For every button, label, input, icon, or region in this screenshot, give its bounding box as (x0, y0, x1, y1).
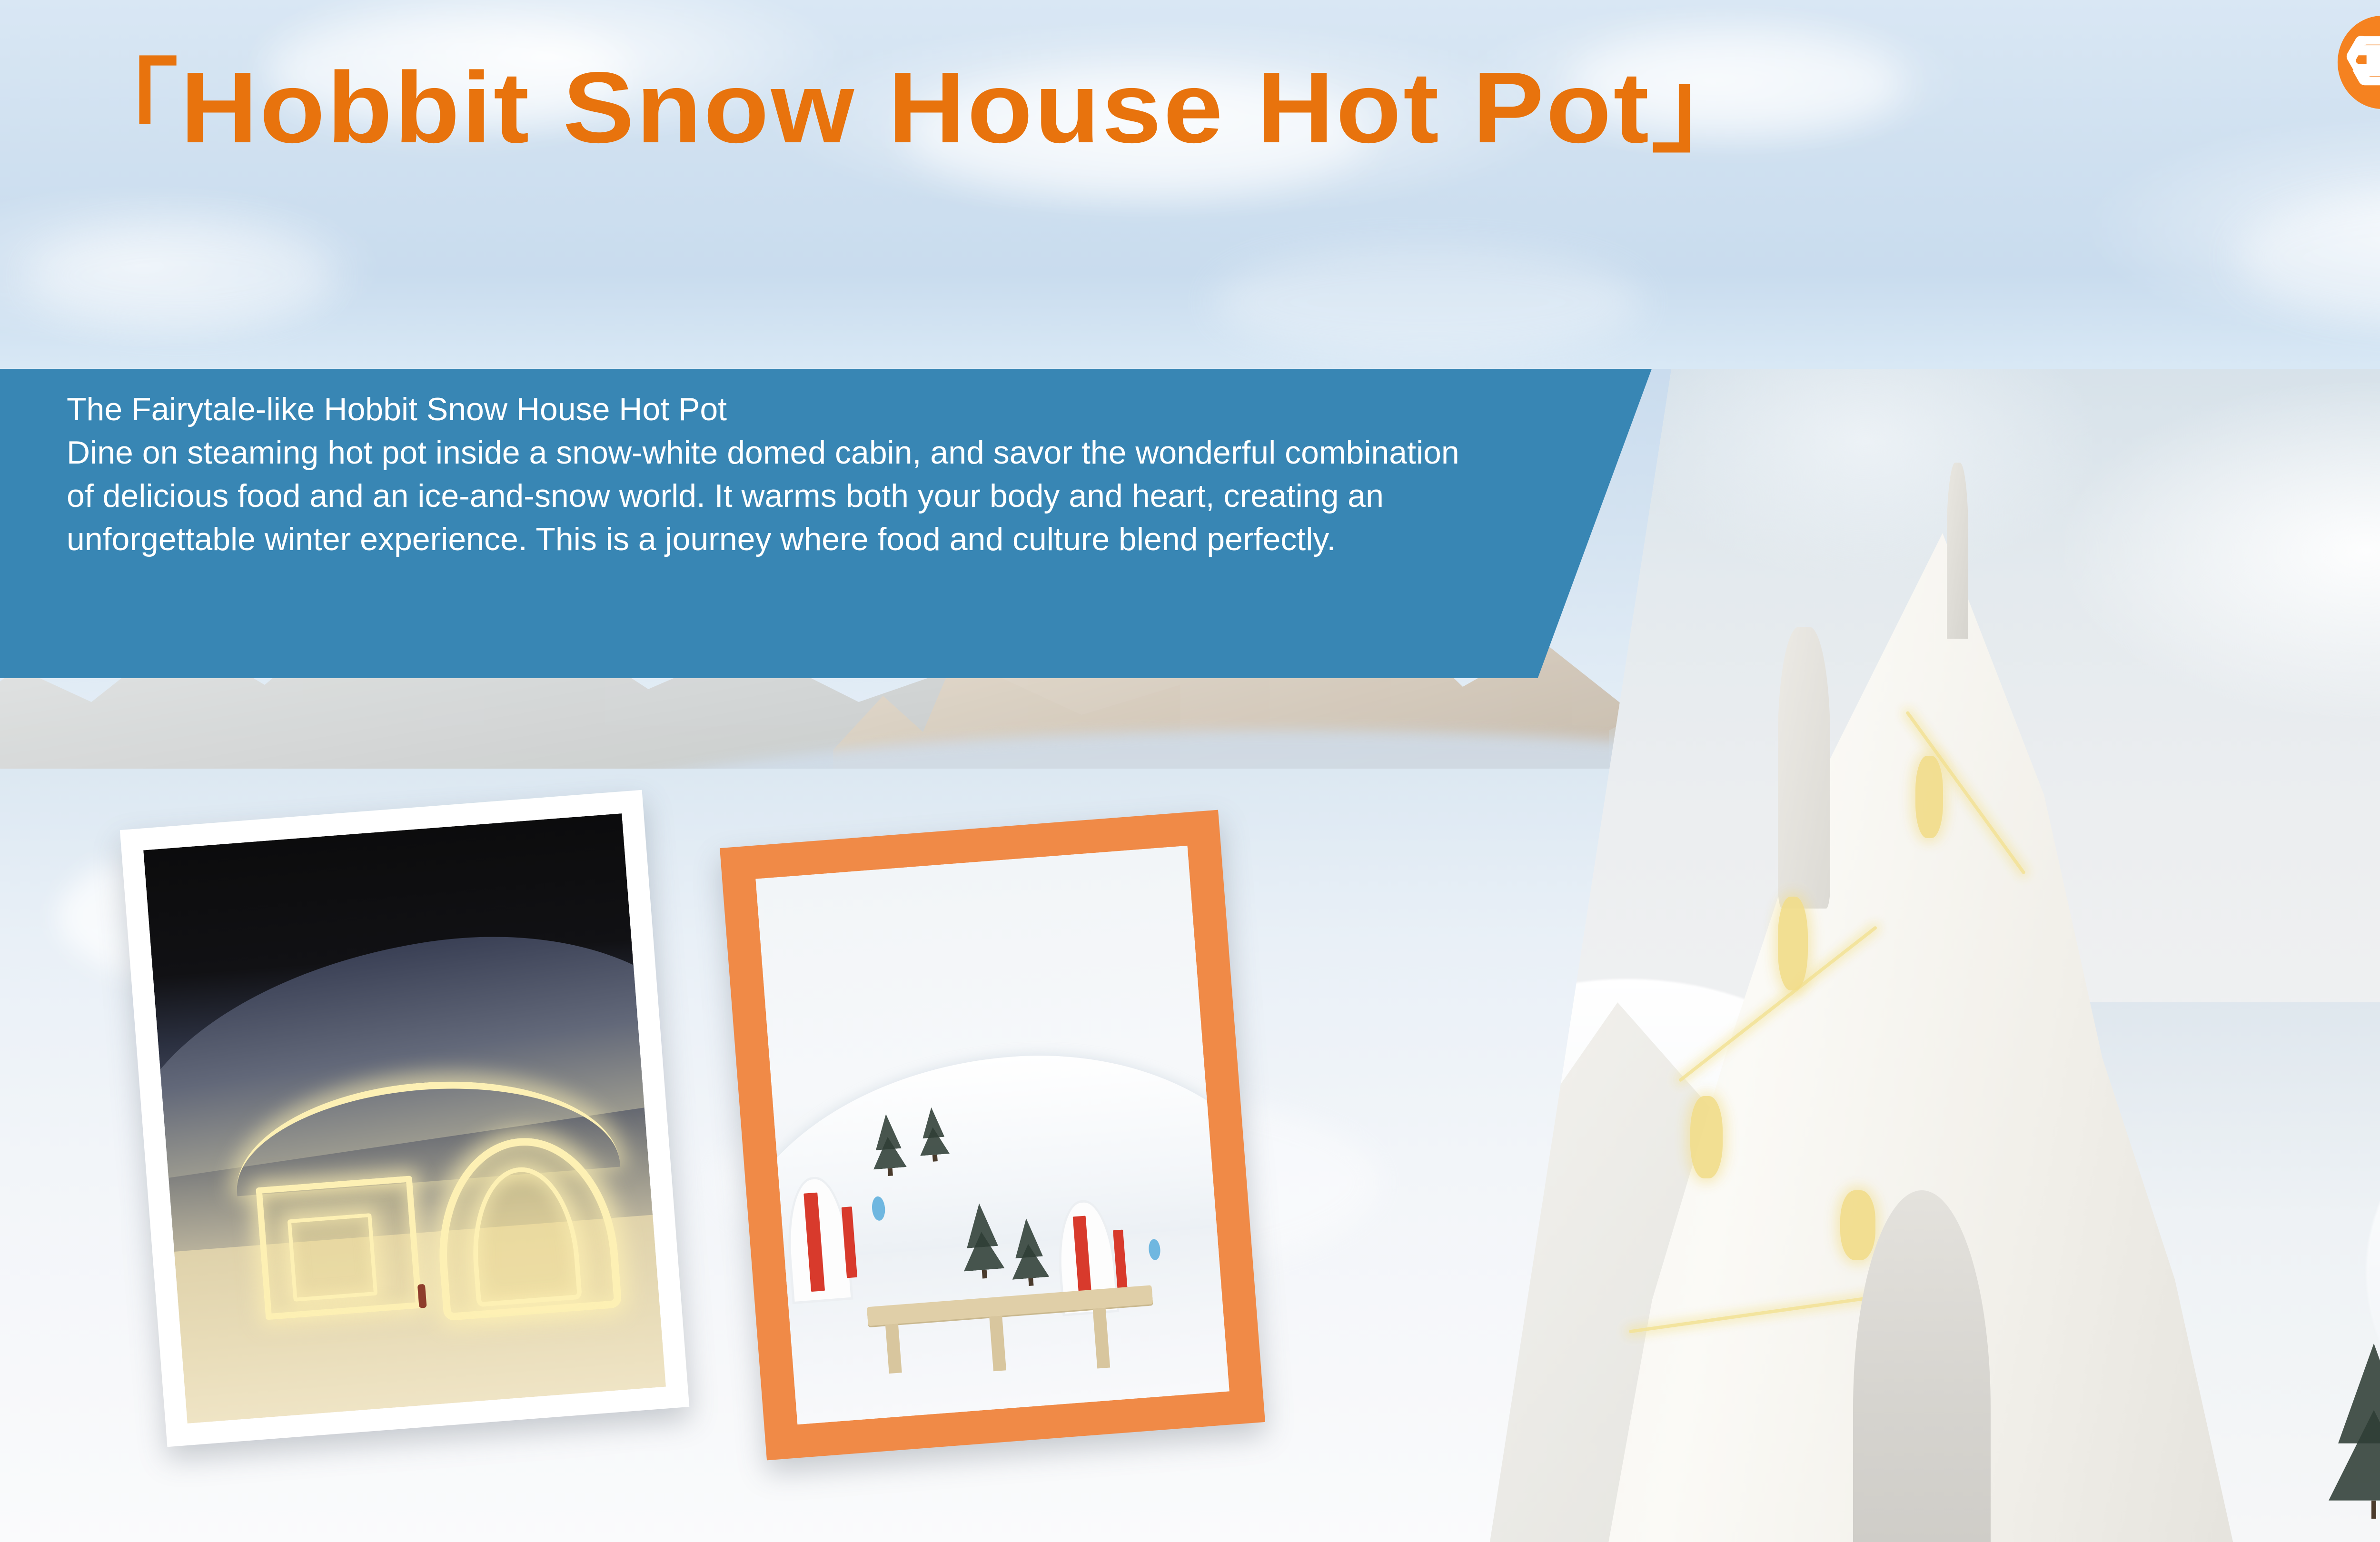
thumbnail-night-snow-house[interactable] (120, 790, 689, 1447)
pine-tree (2329, 1344, 2380, 1519)
night-scene (143, 813, 666, 1423)
poster-canvas: 「Hobbit Snow House Hot Pot」 CS LIFE ® LI… (0, 0, 2380, 1542)
hero-chimney (1778, 627, 1830, 909)
brand-logo[interactable]: CS LIFE ® LIVE YOUR DREAM (2336, 13, 2380, 111)
pine-tree (869, 1113, 907, 1177)
hero-lit-window (1915, 756, 1943, 838)
cloud-puff (2237, 190, 2380, 324)
pine-tree (959, 1202, 1005, 1280)
thumbnail-night-image (143, 813, 666, 1423)
thumbnail-day-image (755, 846, 1230, 1424)
hero-lit-window (1778, 897, 1808, 990)
description-text: The Fairytale-like Hobbit Snow House Hot… (67, 388, 1476, 561)
cloud-puff (1214, 247, 1642, 357)
page-title: 「Hobbit Snow House Hot Pot」 (71, 57, 1760, 158)
thumbnail-day-snow-village[interactable] (720, 810, 1265, 1461)
glow-window-pane (288, 1213, 378, 1302)
pine-tree (917, 1106, 951, 1162)
hero-lit-window (1690, 1096, 1723, 1178)
hero-lit-window (1840, 1190, 1875, 1261)
cs-monogram-icon (2336, 16, 2380, 109)
day-scene (755, 846, 1230, 1424)
cloud-puff (29, 224, 333, 328)
hero-roof-spire (1947, 463, 1968, 639)
pine-tree (1008, 1217, 1050, 1287)
